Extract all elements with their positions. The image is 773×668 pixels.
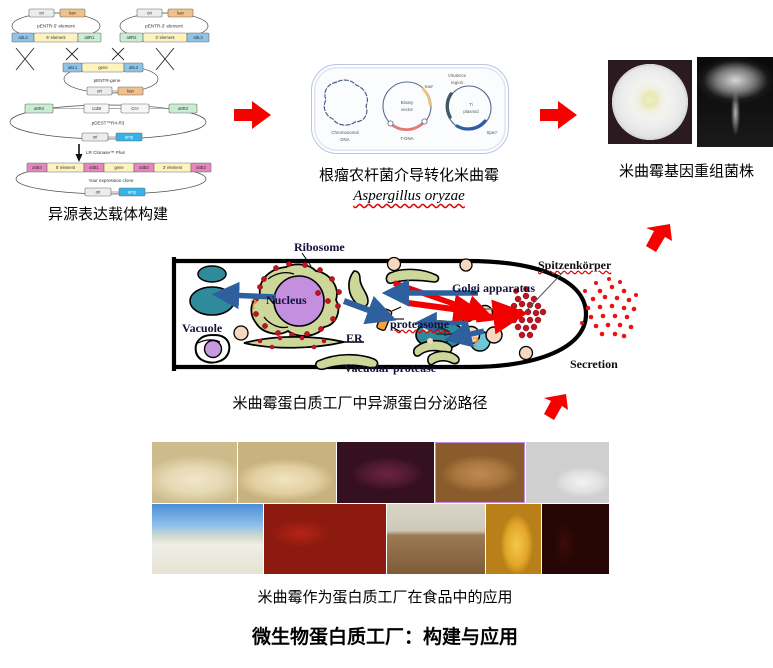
svg-text:attL3: attL3: [193, 35, 203, 40]
food-tile-sake-bottles: [387, 504, 485, 574]
secretion-pathway-panel: ? ? Ribosome Nucleus Vacuole ER proteaso…: [168, 243, 638, 390]
svg-text:Virulence: Virulence: [448, 73, 467, 78]
plasmid-pENTR-gene: attL1 gene attL2 pENTR-gene ori kan: [63, 63, 158, 95]
ti-plasmid: Virulence region Ti plasmid Specʳ Kanʳ: [425, 73, 498, 135]
svg-text:attR3: attR3: [178, 106, 189, 111]
svg-text:attB4: attB4: [32, 165, 42, 170]
caption-food-applications: 米曲霉作为蛋白质工厂在食品中的应用: [185, 586, 585, 607]
petri-dish-photo: [608, 60, 692, 144]
svg-text:plasmid: plasmid: [463, 109, 479, 114]
svg-text:attB1: attB1: [89, 165, 99, 170]
svg-text:kan: kan: [69, 11, 76, 16]
svg-text:Chromosomal: Chromosomal: [331, 130, 358, 135]
label-secretion: Secretion: [570, 357, 618, 372]
svg-text:ori: ori: [39, 11, 44, 16]
svg-text:ccdB: ccdB: [92, 106, 102, 111]
binary-vector: Binary vector T-DNA: [383, 82, 431, 141]
caption-recombinant-strain: 米曲霉基因重组菌株: [600, 160, 773, 181]
vector-construction-panel: ori kan pENTR-5' element attL4 5' elemen…: [4, 4, 219, 199]
svg-text:gene: gene: [98, 65, 108, 70]
label-nucleus: Nucleus: [266, 293, 307, 308]
svg-text:kan: kan: [177, 11, 184, 16]
arrow-diagonal-1: [632, 222, 676, 264]
svg-text:Specʳ: Specʳ: [486, 130, 497, 135]
conidiophore-micrograph: [697, 57, 773, 147]
food-tile-koji-rice: [152, 442, 237, 503]
agrobacterium-panel: Chromosomal DNA Binary vector T-DNA Viru…: [311, 64, 509, 154]
svg-text:attR1: attR1: [84, 35, 95, 40]
question-mark-protease: ?: [472, 335, 480, 351]
svg-text:ori: ori: [97, 89, 102, 94]
food-tile-tofu-plateau: [152, 504, 263, 574]
svg-text:attL2: attL2: [129, 65, 139, 70]
food-tile-cheese-assortment: [264, 504, 386, 574]
svg-text:pENTR-5' element: pENTR-5' element: [37, 24, 75, 29]
caption-agrobacterium-latin: Aspergillus oryzae: [286, 188, 532, 205]
svg-text:pENTR-3' element: pENTR-3' element: [145, 24, 183, 29]
chromosomal-dna: Chromosomal DNA: [324, 80, 367, 142]
svg-text:ori: ori: [93, 135, 98, 140]
label-vacuole: Vacuole: [182, 321, 222, 336]
secretion-cloud: [580, 277, 638, 338]
figure-title: 微生物蛋白质工厂：构建与应用: [180, 622, 590, 649]
svg-text:ori: ori: [96, 190, 101, 195]
food-tile-natto-rice-dish: [337, 442, 434, 503]
label-vacuolar-protease: Vacuolar protease: [344, 361, 436, 376]
svg-text:attR2: attR2: [126, 35, 137, 40]
plasmid-pDEST-R4-R3: attR4 ccdB Cmʳ attR3 pDEST™R4-R3 ori amp: [10, 104, 206, 141]
svg-text:Binary: Binary: [401, 100, 414, 105]
svg-text:pDEST™R4-R3: pDEST™R4-R3: [92, 121, 125, 126]
svg-text:Cmʳ: Cmʳ: [131, 106, 139, 111]
svg-text:Kanʳ: Kanʳ: [425, 84, 434, 89]
plasmid-expression-clone: attB4 5' element attB1 gene attB2 3' ele…: [16, 163, 211, 196]
svg-text:vector: vector: [401, 107, 413, 112]
svg-text:gene: gene: [114, 165, 124, 170]
plasmid-pENTR-3prime: ori kan pENTR-3' element attR2 3' elemen…: [120, 9, 209, 42]
svg-text:ori: ori: [147, 11, 152, 16]
svg-text:kan: kan: [127, 89, 134, 94]
food-tile-enzyme-capsules: [526, 442, 609, 503]
spitzenkorper-leader: [520, 269, 568, 313]
arrow-diagonal-2: [532, 392, 572, 430]
autophagosome: [196, 335, 230, 363]
svg-text:attL4: attL4: [18, 35, 28, 40]
caption-agrobacterium-cn: 根瘤农杆菌介导转化米曲霉: [286, 164, 532, 185]
arrow-right-2: [538, 98, 580, 132]
food-tile-amazake: [238, 442, 336, 503]
label-ribosome: Ribosome: [294, 240, 345, 255]
caption-vector-construction: 异源表达载体构建: [18, 203, 198, 224]
svg-text:3' element: 3' element: [163, 165, 183, 170]
svg-text:attR4: attR4: [34, 106, 45, 111]
svg-text:attB2: attB2: [139, 165, 149, 170]
svg-text:pENTR-gene: pENTR-gene: [94, 78, 121, 83]
question-mark-vacuole: ?: [250, 297, 258, 313]
arrow-right-1: [232, 98, 274, 132]
agrobacterium-contents-svg: Chromosomal DNA Binary vector T-DNA Viru…: [311, 64, 507, 152]
svg-text:LR Clonase™ Plus: LR Clonase™ Plus: [86, 150, 126, 155]
food-tile-beer-glass: [486, 504, 541, 574]
svg-text:amp: amp: [125, 135, 134, 140]
svg-text:3' element: 3' element: [155, 35, 175, 40]
svg-text:amp: amp: [128, 190, 137, 195]
plasmid-map-svg: ori kan pENTR-5' element attL4 5' elemen…: [4, 4, 219, 199]
food-tile-soy-sauce-bottles: [542, 504, 609, 574]
label-proteasome: proteasome: [390, 317, 449, 332]
plasmid-pENTR-5prime: ori kan pENTR-5' element attL4 5' elemen…: [12, 9, 101, 42]
svg-text:DNA: DNA: [340, 137, 349, 142]
caption-secretion-pathway: 米曲霉蛋白质工厂中异源蛋白分泌路径: [180, 392, 540, 413]
svg-text:5' element: 5' element: [46, 35, 66, 40]
svg-text:T-DNA: T-DNA: [400, 136, 413, 141]
svg-text:attB3: attB3: [196, 165, 206, 170]
svg-text:Ti: Ti: [469, 102, 473, 107]
svg-text:Your expression clone: Your expression clone: [88, 178, 133, 183]
petri-dish-colony: [612, 64, 688, 140]
lr-clonase-step: LR Clonase™ Plus: [76, 144, 126, 162]
svg-text:region: region: [451, 80, 464, 85]
label-er: ER: [346, 331, 363, 346]
food-tile-fermented-nuts: [435, 442, 525, 503]
svg-text:attL1: attL1: [68, 65, 78, 70]
svg-text:5' element: 5' element: [56, 165, 76, 170]
